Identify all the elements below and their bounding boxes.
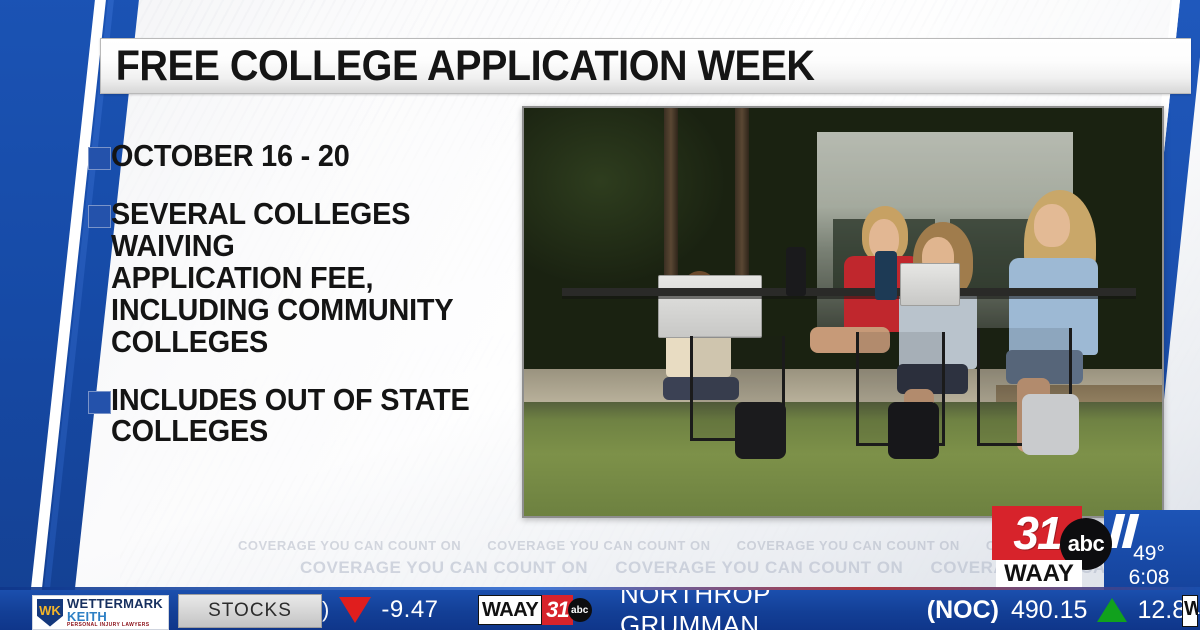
list-item: SEVERAL COLLEGES WAIVING APPLICATION FEE…: [88, 198, 518, 358]
bullet-text: OCTOBER 16 - 20: [111, 140, 350, 172]
callsign-badge: WAAY: [996, 560, 1082, 588]
coverage-slogan: COVERAGE YOU CAN COUNT ON: [737, 538, 960, 553]
shield-icon: WK: [37, 599, 63, 627]
bullet-square-icon: [88, 391, 111, 414]
abc-logo-text: abc: [1068, 531, 1104, 557]
ticker-symbol: (NOC): [927, 596, 999, 625]
temperature-readout: 49°: [1104, 542, 1194, 566]
ticker-abc-text: abc: [571, 605, 588, 616]
ticker-station-logo: WAAY 31 abc: [478, 595, 592, 625]
weather-clock-box: 49° 6:08: [1104, 510, 1200, 592]
bullet-square-icon: [88, 147, 111, 170]
ticker-callsign-badge: WAAY: [478, 595, 542, 625]
broadcast-graphic-screen: FREE COLLEGE APPLICATION WEEK OCTOBER 16…: [0, 0, 1200, 630]
ticker-quote-left: ) -9.47: [322, 590, 439, 630]
page-title: FREE COLLEGE APPLICATION WEEK: [101, 42, 814, 91]
coverage-slogan: COVERAGE YOU CAN COUNT ON: [300, 558, 588, 577]
bullet-text: SEVERAL COLLEGES WAIVING APPLICATION FEE…: [111, 198, 490, 358]
photo-backpack: [735, 402, 786, 459]
photo-laptop: [900, 263, 959, 306]
ticker-partial-text: ): [322, 597, 329, 623]
arrow-up-icon: [1097, 598, 1127, 622]
ticker-edge-logo-text: W: [1184, 598, 1198, 621]
ticker-category-label: STOCKS: [208, 600, 292, 622]
channel-number: 31: [1013, 510, 1060, 556]
ticker-quote-right: NORTHROP GRUMMAN (NOC) 490.15 12.84: [620, 590, 1200, 630]
bullet-text: INCLUDES OUT OF STATE COLLEGES: [111, 384, 470, 448]
photo-backpack: [888, 402, 939, 459]
ticker-abc-logo: abc: [568, 598, 592, 622]
photo-water-bottle: [786, 247, 806, 296]
ticker-callsign-text: WAAY: [482, 599, 538, 622]
photo-table: [562, 288, 1136, 296]
ticker-channel-number: 31: [546, 597, 568, 623]
arrow-down-icon: [339, 597, 371, 623]
bullet-square-icon: [88, 205, 111, 228]
callsign-text: WAAY: [1004, 562, 1074, 586]
ticker-change-value: -9.47: [381, 596, 438, 624]
ticker-edge-logo: W: [1182, 595, 1198, 627]
ticker-category-chip[interactable]: STOCKS: [178, 594, 322, 628]
coverage-slogan: COVERAGE YOU CAN COUNT ON: [615, 558, 903, 577]
bullet-list: OCTOBER 16 - 20 SEVERAL COLLEGES WAIVING…: [88, 140, 518, 473]
photo-water-bottle: [875, 251, 897, 300]
shield-monogram: WK: [39, 603, 61, 618]
ticker-price: 490.15: [1011, 596, 1087, 625]
news-photo: [522, 106, 1164, 518]
sponsor-line-3: PERSONAL INJURY LAWYERS: [67, 623, 163, 628]
sponsor-logo-text: WETTERMARK KEITH PERSONAL INJURY LAWYERS: [67, 597, 163, 628]
station-bug: 49° 6:08 31 abc WAAY: [992, 506, 1200, 592]
coverage-slogan: COVERAGE YOU CAN COUNT ON: [487, 538, 710, 553]
photo-laptop: [658, 275, 762, 338]
list-item: INCLUDES OUT OF STATE COLLEGES: [88, 384, 518, 448]
coverage-slogan: COVERAGE YOU CAN COUNT ON: [238, 538, 461, 553]
headline-bar: FREE COLLEGE APPLICATION WEEK: [100, 38, 1191, 94]
list-item: OCTOBER 16 - 20: [88, 140, 518, 172]
sponsor-logo-wettermark-keith[interactable]: WK WETTERMARK KEITH PERSONAL INJURY LAWY…: [32, 595, 169, 630]
ticker-company-name: NORTHROP GRUMMAN: [620, 590, 915, 630]
stock-ticker-bar: WK WETTERMARK KEITH PERSONAL INJURY LAWY…: [0, 590, 1200, 630]
photo-backpack: [1022, 394, 1079, 455]
photo-head: [1034, 204, 1070, 247]
